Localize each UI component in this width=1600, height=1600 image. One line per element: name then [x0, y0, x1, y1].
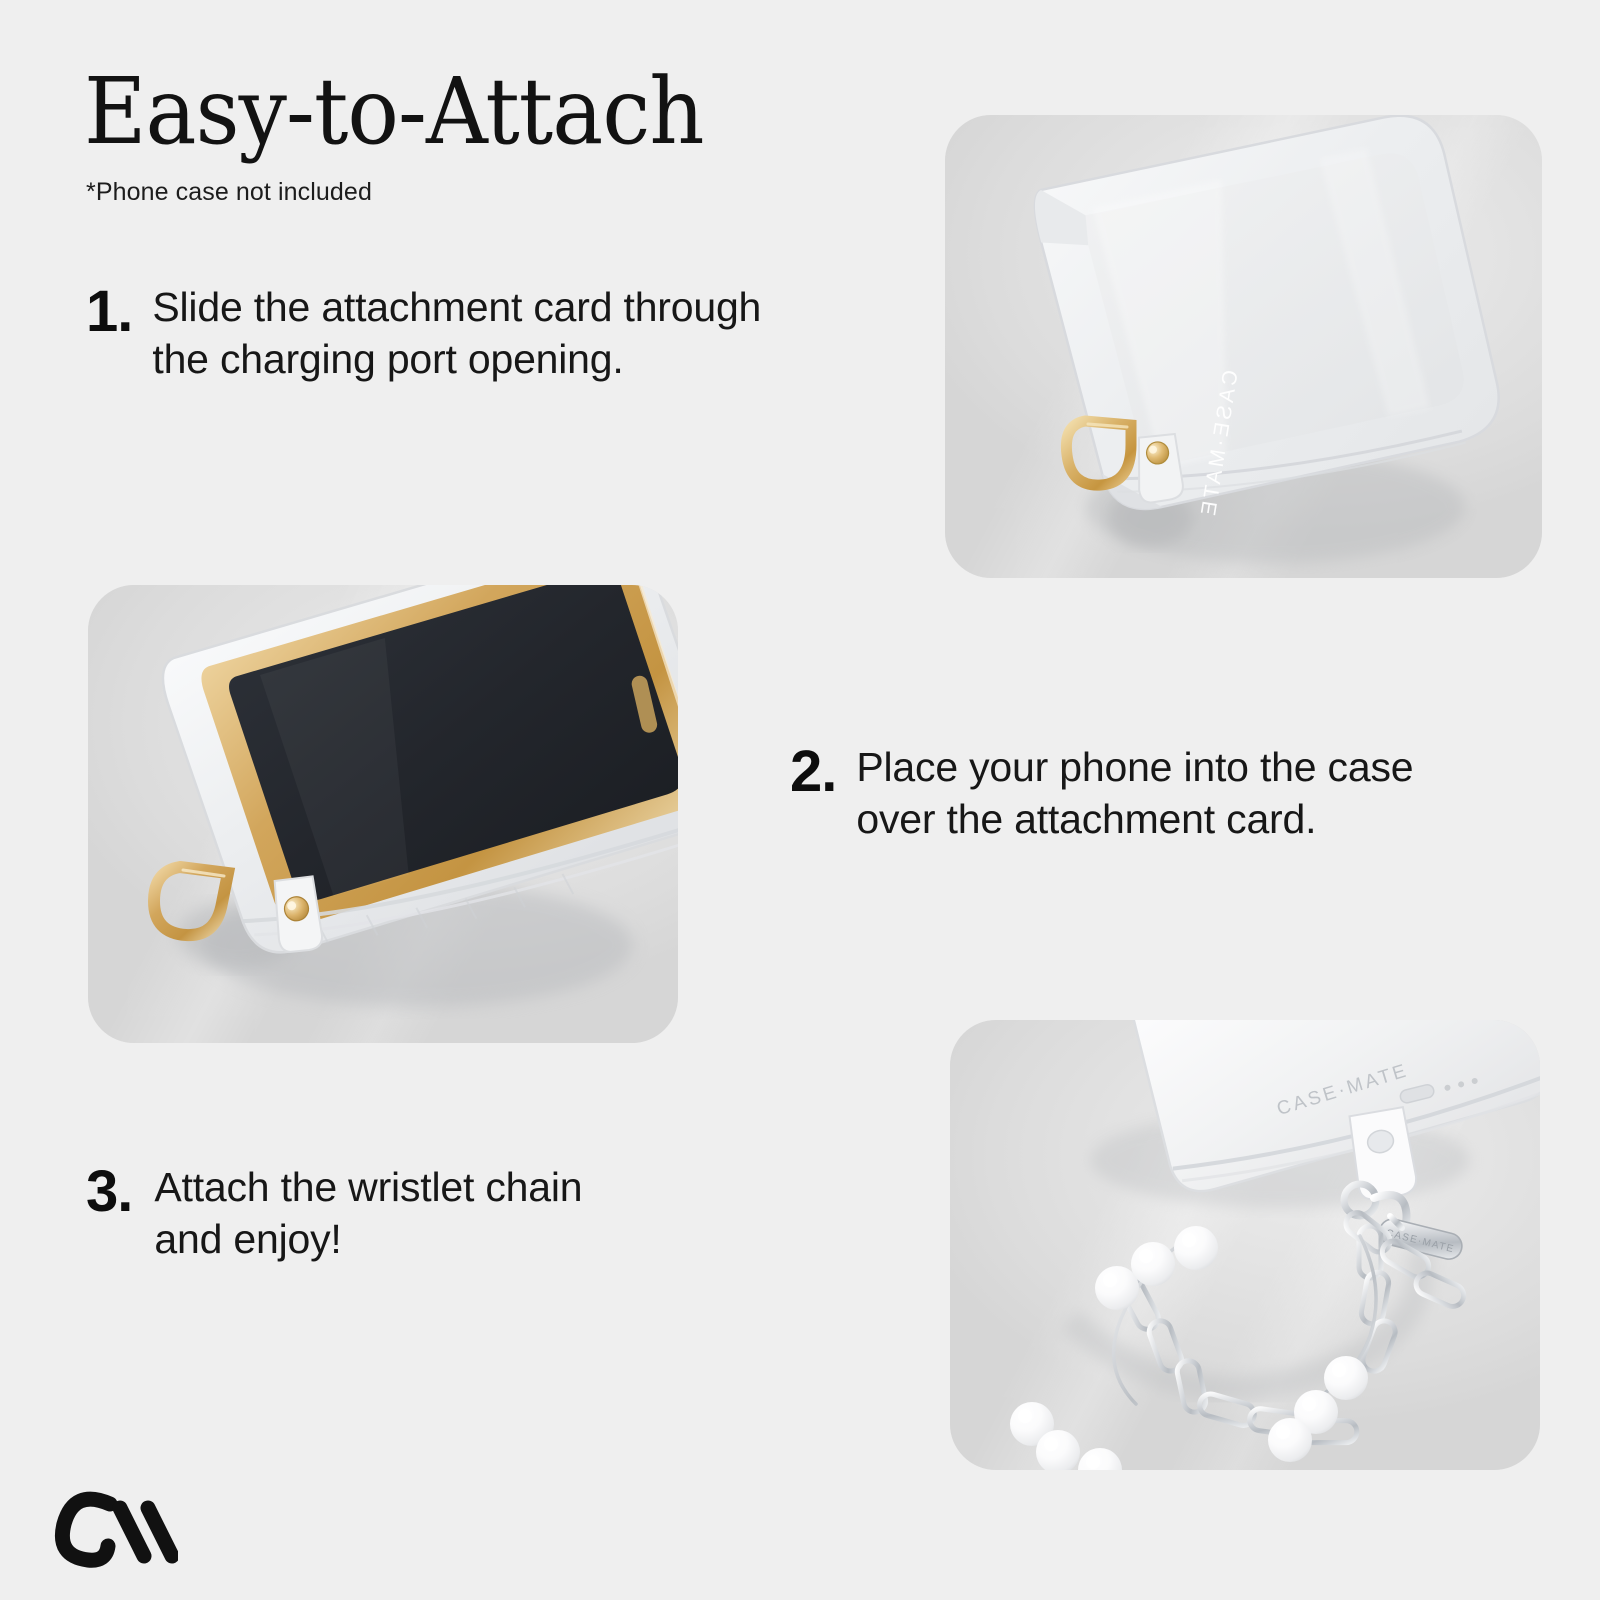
- step-2-line-2: over the attachment card.: [856, 794, 1413, 846]
- step-3-number: 3.: [86, 1164, 132, 1219]
- step-1-text: Slide the attachment card through the ch…: [152, 282, 761, 385]
- product-photo-step-3: CASE·MATE CASE·MATE: [950, 1020, 1540, 1470]
- case-mate-logo-mark: [48, 1480, 178, 1576]
- step-1-block: 1. Slide the attachment card through the…: [86, 282, 761, 385]
- disclaimer-note: *Phone case not included: [86, 178, 372, 207]
- step-3-text: Attach the wristlet chain and enjoy!: [154, 1162, 582, 1265]
- product-photo-step-2: [88, 585, 678, 1043]
- step-3-block: 3. Attach the wristlet chain and enjoy!: [86, 1162, 582, 1265]
- case-mate-logo-icon: [48, 1480, 178, 1576]
- step-1-line-1: Slide the attachment card through: [152, 282, 761, 334]
- instruction-graphic: Easy-to-Attach *Phone case not included …: [0, 0, 1600, 1600]
- step-3-line-1: Attach the wristlet chain: [154, 1162, 582, 1214]
- pearl-cluster-lower-left: [1010, 1402, 1122, 1470]
- panel-2-illustration: [88, 585, 678, 1043]
- pearl-cluster-upper-left: [1095, 1226, 1218, 1310]
- step-2-number: 2.: [790, 744, 836, 799]
- step-1-number: 1.: [86, 284, 132, 339]
- step-3-line-2: and enjoy!: [154, 1214, 582, 1266]
- product-photo-step-1: CASE·MATE: [945, 115, 1542, 578]
- step-2-line-1: Place your phone into the case: [856, 742, 1413, 794]
- panel-1-illustration: CASE·MATE: [945, 115, 1542, 578]
- page-title: Easy-to-Attach: [84, 66, 703, 158]
- step-1-line-2: the charging port opening.: [152, 334, 761, 386]
- step-2-block: 2. Place your phone into the case over t…: [790, 742, 1413, 845]
- step-2-text: Place your phone into the case over the …: [856, 742, 1413, 845]
- panel-3-illustration: CASE·MATE CASE·MATE: [950, 1020, 1540, 1470]
